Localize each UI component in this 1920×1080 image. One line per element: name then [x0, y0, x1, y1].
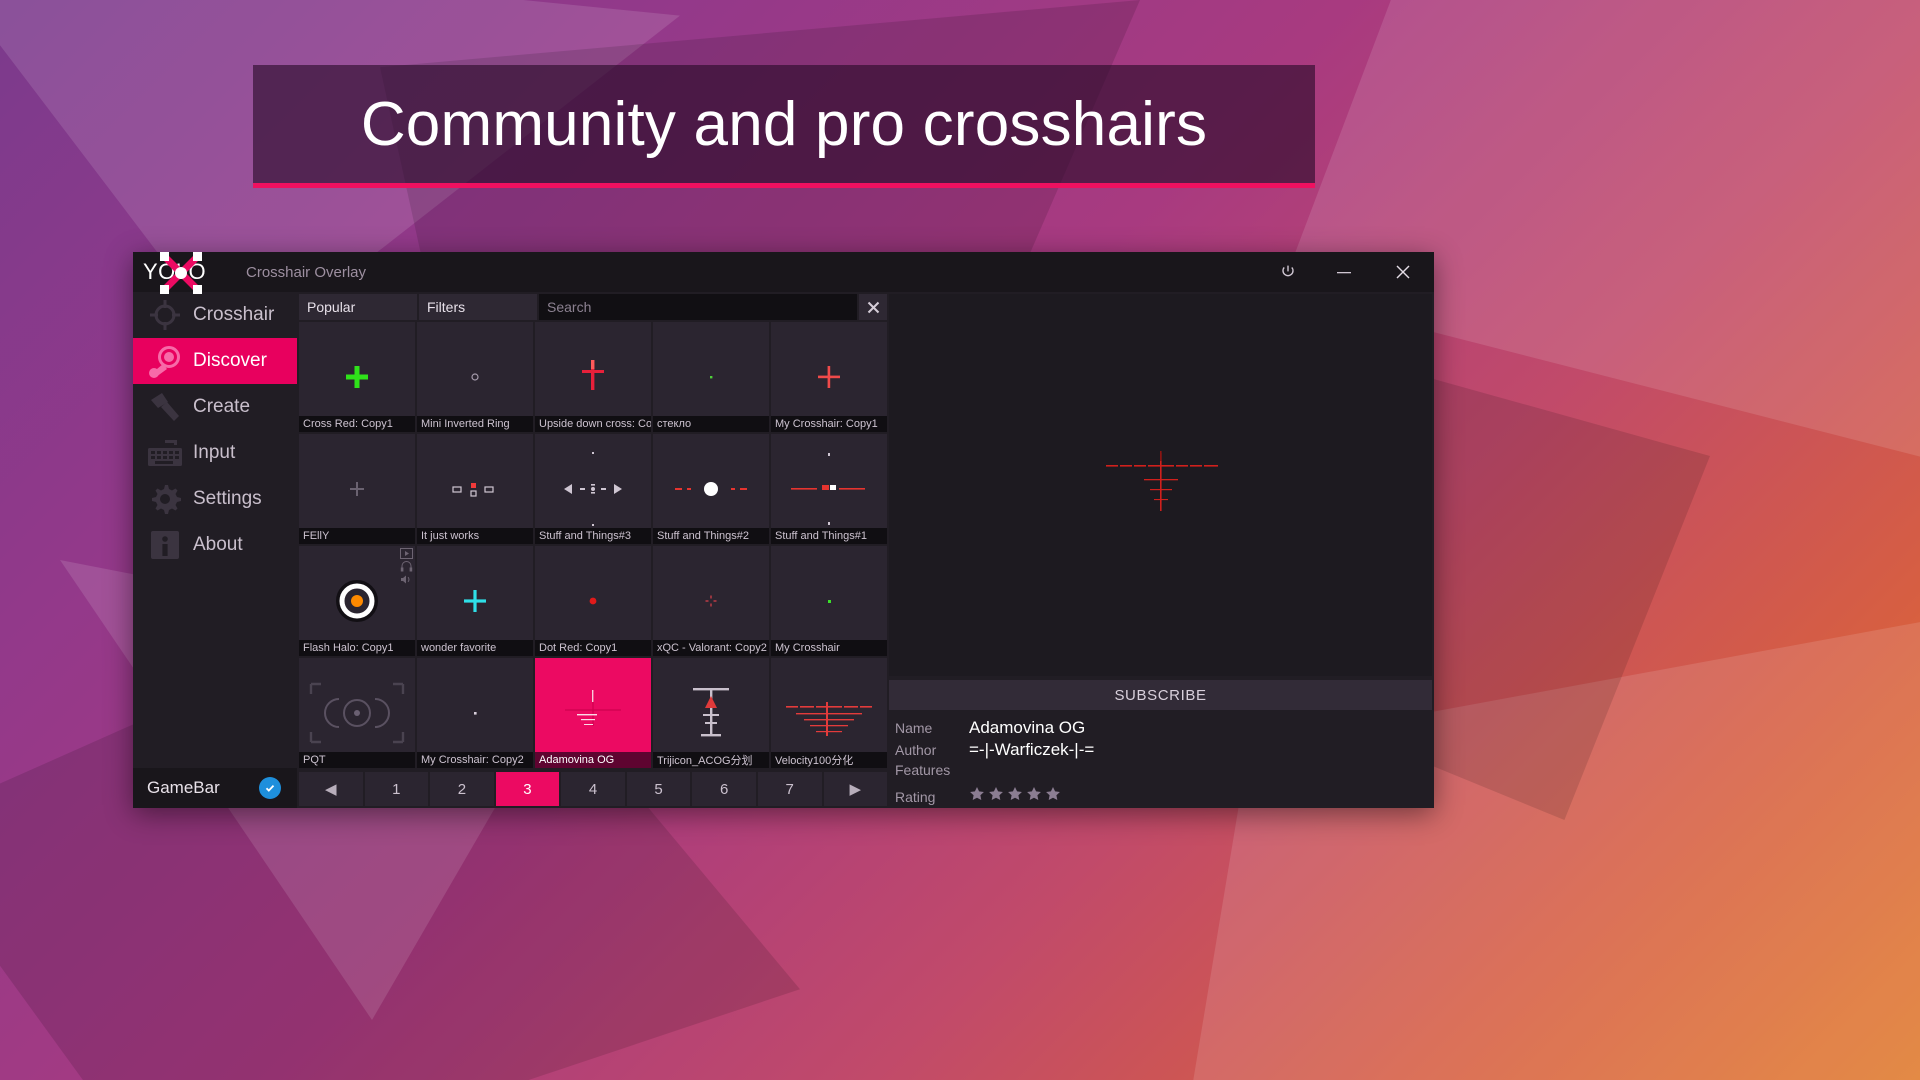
grid-tile[interactable]: Velocity100分化 [771, 658, 887, 768]
hammer-icon [137, 384, 193, 430]
detail-row-name: Name Adamovina OG [895, 718, 1432, 740]
grid-tile-label: Trijicon_ACOG分划 [653, 752, 769, 768]
steam-icon [137, 338, 193, 384]
sidebar-item-settings[interactable]: Settings [133, 476, 297, 522]
pagination: ◀ 1 2 3 4 5 6 7 ▶ [297, 770, 889, 808]
window-body: Crosshair Discover [133, 292, 1434, 808]
star-icon [969, 786, 985, 802]
grid-tile[interactable]: PQT [299, 658, 415, 768]
minimize-icon[interactable] [1316, 252, 1372, 292]
grid-tile[interactable]: стекло [653, 322, 769, 432]
sidebar-item-about[interactable]: About [133, 522, 297, 568]
app-window: YOLO Crosshair Overlay [133, 252, 1434, 808]
title-bar: YOLO Crosshair Overlay [133, 252, 1434, 292]
preview-reticle [1076, 425, 1246, 545]
sidebar-item-input[interactable]: Input [133, 430, 297, 476]
window-controls [1260, 252, 1434, 292]
detail-row-author: Author =-|-Warficzek-|-= [895, 740, 1432, 762]
grid-tile-label: Stuff and Things#1 [771, 528, 887, 544]
crosshair-grid: Cross Red: Copy1 Mini Inverted Ring [297, 320, 889, 770]
star-icon [1007, 786, 1023, 802]
grid-tile[interactable]: FEllY [299, 434, 415, 544]
grid-tile[interactable]: xQC - Valorant: Copy2 [653, 546, 769, 656]
detail-key: Features [895, 762, 969, 778]
grid-tile-label: Stuff and Things#2 [653, 528, 769, 544]
detail-panel: SUBSCRIBE Name Adamovina OG Author =-|-W… [889, 292, 1434, 808]
detail-key: Author [895, 742, 969, 758]
sidebar-item-label: Crosshair [193, 304, 274, 326]
grid-tile-label: стекло [653, 416, 769, 432]
sidebar-item-label: Create [193, 396, 250, 418]
pagination-page-3[interactable]: 3 [496, 772, 560, 806]
grid-tile[interactable]: Stuff and Things#3 [535, 434, 651, 544]
browse-toolbar: Popular Filters Search [297, 292, 889, 320]
grid-tile[interactable]: My Crosshair: Copy1 [771, 322, 887, 432]
grid-tile-label: It just works [417, 528, 533, 544]
grid-tile[interactable]: It just works [417, 434, 533, 544]
grid-tile[interactable]: wonder favorite [417, 546, 533, 656]
detail-info: Name Adamovina OG Author =-|-Warficzek-|… [889, 710, 1432, 806]
grid-tile[interactable]: My Crosshair: Copy2 [417, 658, 533, 768]
keyboard-icon [137, 430, 193, 476]
grid-tile-label: PQT [299, 752, 415, 768]
grid-tile-label: wonder favorite [417, 640, 533, 656]
sidebar-item-label: Input [193, 442, 235, 464]
search-input[interactable]: Search [539, 294, 857, 320]
grid-tile-label: Upside down cross: Cop [535, 416, 651, 432]
star-icon [1045, 786, 1061, 802]
grid-tile-label: Mini Inverted Ring [417, 416, 533, 432]
sidebar-item-discover[interactable]: Discover [133, 338, 297, 384]
star-icon [1026, 786, 1042, 802]
gear-icon [137, 476, 193, 522]
grid-tile-label: My Crosshair [771, 640, 887, 656]
gamebar-label: GameBar [147, 778, 220, 798]
grid-tile[interactable]: Flash Halo: Copy1 [299, 546, 415, 656]
pagination-page-1[interactable]: 1 [365, 772, 429, 806]
browse-panel: Popular Filters Search Cross Red: Copy1 [297, 292, 889, 808]
sidebar-item-label: Discover [193, 350, 267, 372]
popular-dropdown[interactable]: Popular [299, 294, 417, 320]
grid-tile-label: Dot Red: Copy1 [535, 640, 651, 656]
slide-title: Community and pro crosshairs [361, 89, 1207, 160]
detail-value-name: Adamovina OG [969, 718, 1085, 738]
grid-tile[interactable]: Mini Inverted Ring [417, 322, 533, 432]
sidebar-item-label: About [193, 534, 243, 556]
headphones-icon [400, 561, 413, 572]
grid-tile-label: My Crosshair: Copy2 [417, 752, 533, 768]
grid-tile[interactable]: Dot Red: Copy1 [535, 546, 651, 656]
detail-row-features: Features [895, 762, 1432, 784]
info-icon [137, 522, 193, 568]
pagination-page-7[interactable]: 7 [758, 772, 822, 806]
grid-tile[interactable]: Upside down cross: Cop [535, 322, 651, 432]
slide-banner: Community and pro crosshairs [253, 65, 1315, 183]
sidebar-item-label: Settings [193, 488, 262, 510]
pagination-next[interactable]: ▶ [824, 772, 888, 806]
gamebar-row[interactable]: GameBar [133, 768, 297, 808]
sidebar-spacer [133, 568, 297, 768]
detail-key: Rating [895, 789, 969, 805]
close-icon[interactable] [1372, 252, 1434, 292]
power-icon[interactable] [1260, 252, 1316, 292]
grid-tile-label: My Crosshair: Copy1 [771, 416, 887, 432]
slide-underline [253, 183, 1315, 188]
star-icon [988, 786, 1004, 802]
grid-tile-label: Stuff and Things#3 [535, 528, 651, 544]
pagination-page-2[interactable]: 2 [430, 772, 494, 806]
gamebar-toggle[interactable] [259, 777, 281, 799]
grid-tile-selected[interactable]: Adamovina OG [535, 658, 651, 768]
play-icon [400, 548, 413, 559]
grid-tile[interactable]: Cross Red: Copy1 [299, 322, 415, 432]
subscribe-button[interactable]: SUBSCRIBE [889, 680, 1432, 710]
pagination-prev[interactable]: ◀ [299, 772, 363, 806]
grid-tile-label: Cross Red: Copy1 [299, 416, 415, 432]
crosshair-preview [889, 294, 1432, 676]
sidebar: Crosshair Discover [133, 292, 297, 808]
grid-tile[interactable]: Stuff and Things#1 [771, 434, 887, 544]
pagination-page-5[interactable]: 5 [627, 772, 691, 806]
grid-tile[interactable]: Stuff and Things#2 [653, 434, 769, 544]
tile-badges [400, 548, 413, 585]
detail-key: Name [895, 720, 969, 736]
grid-tile[interactable]: Trijicon_ACOG分划 [653, 658, 769, 768]
sound-icon [400, 574, 413, 585]
grid-tile[interactable]: My Crosshair [771, 546, 887, 656]
app-logo: YOLO [133, 252, 218, 292]
grid-tile-label: Flash Halo: Copy1 [299, 640, 415, 656]
filters-dropdown[interactable]: Filters [419, 294, 537, 320]
pagination-page-6[interactable]: 6 [692, 772, 756, 806]
clear-search-icon[interactable] [859, 294, 887, 320]
grid-tile-label: Adamovina OG [535, 752, 651, 768]
grid-tile-label: FEllY [299, 528, 415, 544]
app-title: Crosshair Overlay [246, 264, 366, 281]
rating-stars[interactable] [969, 784, 1061, 802]
crosshair-icon [137, 292, 193, 338]
detail-value-author: =-|-Warficzek-|-= [969, 740, 1094, 760]
grid-tile-label: xQC - Valorant: Copy2 [653, 640, 769, 656]
pagination-page-4[interactable]: 4 [561, 772, 625, 806]
grid-tile-label: Velocity100分化 [771, 752, 887, 768]
detail-row-rating: Rating [895, 784, 1432, 806]
sidebar-item-create[interactable]: Create [133, 384, 297, 430]
sidebar-item-crosshair[interactable]: Crosshair [133, 292, 297, 338]
